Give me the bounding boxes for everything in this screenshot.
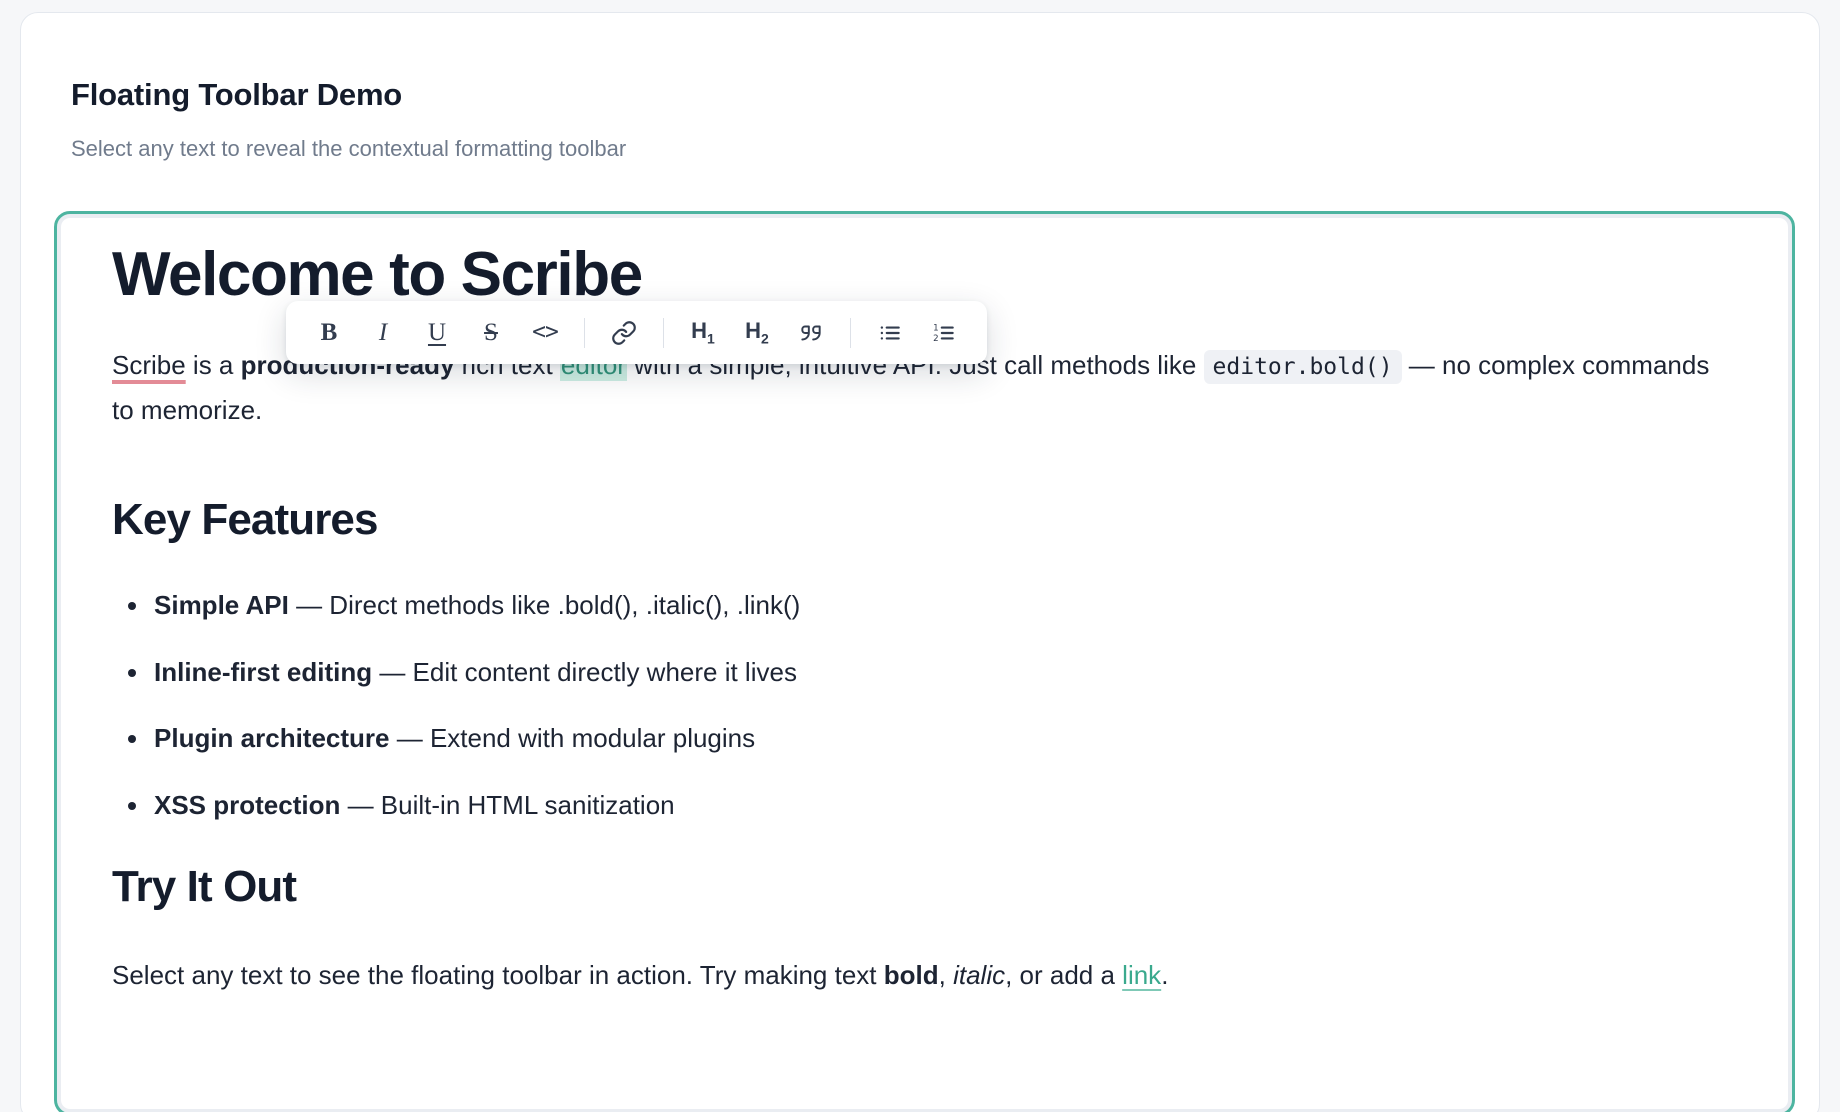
numbered-list-icon: 1 2	[931, 320, 957, 346]
feature-desc: — Direct methods like .bold(), .italic()…	[289, 590, 800, 620]
outro-text-part3: , or add a	[1005, 960, 1122, 990]
inline-code-span: editor.bold()	[1204, 350, 1402, 384]
heading-1-button[interactable]: H1	[681, 311, 725, 355]
underline-icon: U	[428, 320, 446, 345]
quote-icon	[798, 320, 824, 346]
page-root: Floating Toolbar Demo Select any text to…	[0, 0, 1840, 1112]
bold-button[interactable]: B	[307, 311, 351, 355]
feature-desc: — Edit content directly where it lives	[372, 657, 797, 687]
list-item: Plugin architecture — Extend with modula…	[112, 722, 1732, 756]
doc-inline-link[interactable]: link	[1122, 960, 1161, 990]
toolbar-divider	[663, 318, 664, 348]
page-header: Floating Toolbar Demo Select any text to…	[21, 13, 1819, 160]
toolbar-divider	[584, 318, 585, 348]
link-icon	[611, 320, 637, 346]
toolbar-divider	[850, 318, 851, 348]
italic-icon: I	[379, 320, 387, 345]
bullet-list-icon	[877, 320, 903, 346]
floating-format-toolbar[interactable]: B I U S <>	[286, 301, 987, 364]
doc-heading-1: Welcome to Scribe	[112, 242, 1732, 309]
outro-text-part4: .	[1161, 960, 1168, 990]
heading-2-button[interactable]: H2	[735, 311, 779, 355]
svg-text:2: 2	[933, 334, 939, 344]
intro-text-part1: is a	[186, 350, 241, 380]
feature-term: XSS protection	[154, 790, 340, 820]
features-list: Simple API — Direct methods like .bold()…	[112, 589, 1732, 823]
feature-desc: — Built-in HTML sanitization	[340, 790, 674, 820]
strikethrough-button[interactable]: S	[469, 311, 513, 355]
italic-button[interactable]: I	[361, 311, 405, 355]
strikethrough-icon: S	[484, 320, 498, 345]
misspelled-word: Scribe	[112, 350, 186, 380]
blockquote-button[interactable]	[789, 311, 833, 355]
code-button[interactable]: <>	[523, 311, 567, 355]
list-item: Simple API — Direct methods like .bold()…	[112, 589, 1732, 623]
h1-icon: H1	[691, 320, 715, 345]
feature-term: Inline-first editing	[154, 657, 372, 687]
outro-italic-word: italic	[953, 960, 1005, 990]
numbered-list-button[interactable]: 1 2	[922, 311, 966, 355]
outro-text-part2: ,	[939, 960, 953, 990]
svg-text:1: 1	[933, 323, 939, 333]
doc-outro-paragraph: Select any text to see the floating tool…	[112, 953, 1732, 998]
feature-term: Simple API	[154, 590, 289, 620]
code-icon: <>	[532, 321, 558, 344]
bold-icon: B	[321, 320, 338, 345]
h2-icon: H2	[745, 320, 769, 345]
list-item: XSS protection — Built-in HTML sanitizat…	[112, 789, 1732, 823]
underline-button[interactable]: U	[415, 311, 459, 355]
page-subtitle: Select any text to reveal the contextual…	[71, 138, 1819, 160]
link-button[interactable]	[602, 311, 646, 355]
feature-desc: — Extend with modular plugins	[390, 723, 756, 753]
doc-heading-try-it-out: Try It Out	[112, 863, 1732, 911]
app-card: Floating Toolbar Demo Select any text to…	[20, 12, 1820, 1112]
feature-term: Plugin architecture	[154, 723, 390, 753]
list-item: Inline-first editing — Edit content dire…	[112, 656, 1732, 690]
bullet-list-button[interactable]	[868, 311, 912, 355]
page-title: Floating Toolbar Demo	[71, 79, 1819, 110]
outro-text-part1: Select any text to see the floating tool…	[112, 960, 884, 990]
outro-bold-word: bold	[884, 960, 939, 990]
doc-heading-key-features: Key Features	[112, 496, 1732, 544]
